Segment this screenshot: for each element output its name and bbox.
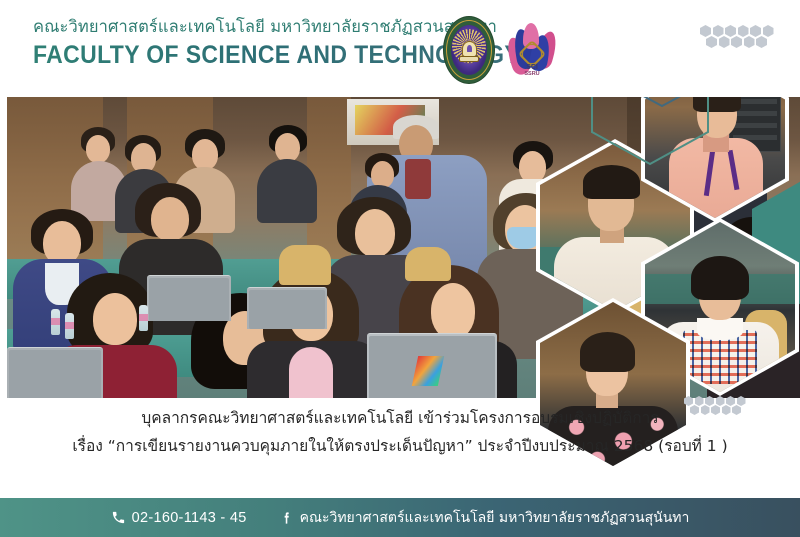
hex-dot (731, 36, 742, 48)
photo-chair (279, 245, 331, 285)
photo-laptop-screen (249, 290, 325, 329)
footer-facebook-item[interactable]: คณะวิทยาศาสตร์และเทคโนโลยี มหาวิทยาลัยรา… (279, 507, 690, 529)
photo-laptop-screen (9, 350, 101, 398)
contact-footer: 02-160-1143 - 45 คณะวิทยาศาสตร์และเทคโนโ… (0, 498, 800, 537)
caption-line-2: เรื่อง “การเขียนรายงานควบคุมภายในให้ตรงป… (0, 432, 800, 460)
poster-root: คณะวิทยาศาสตร์และเทคโนโลยี มหาวิทยาลัยรา… (0, 0, 800, 537)
sci-ssru-logo: SCI SSRU (508, 21, 556, 81)
photo-person-blouse (289, 347, 333, 398)
atom-icon (522, 44, 542, 64)
photo-laptop-screen (149, 278, 229, 321)
hex-dot (722, 405, 731, 415)
photo-water-bottle (51, 309, 60, 335)
sci-logo-text: SCI SSRU (508, 64, 556, 78)
sci-label: SCI (526, 64, 538, 71)
photo-person-head (371, 161, 394, 188)
hex-dot (744, 36, 755, 48)
hex-photo-hair (580, 332, 635, 372)
hex-photo-hair (691, 256, 749, 300)
photo-person-head (275, 133, 300, 162)
event-caption: บุคลากรคณะวิทยาศาสตร์และเทคโนโลยี เข้าร่… (0, 404, 800, 460)
phone-icon (111, 510, 126, 525)
photo-person-body (257, 159, 317, 223)
hex-dot (719, 36, 730, 48)
hex-dot (732, 405, 741, 415)
seal-inner-field (451, 25, 487, 75)
photo-person-head (431, 283, 475, 339)
seal-base (459, 56, 479, 62)
photo-person-head (355, 209, 395, 257)
photo-water-bottle (139, 305, 148, 331)
hex-dot-row (690, 405, 747, 415)
footer-phone-item[interactable]: 02-160-1143 - 45 (111, 510, 247, 526)
hex-dot (701, 405, 710, 415)
ssru-label: SSRU (508, 71, 556, 78)
photo-chair (405, 247, 451, 281)
footer-facebook-name: คณะวิทยาศาสตร์และเทคโนโลยี มหาวิทยาลัยรา… (300, 507, 690, 529)
footer-phone-number: 02-160-1143 - 45 (132, 510, 247, 526)
hex-dot (690, 405, 699, 415)
hex-dot-row (706, 36, 775, 48)
hex-dot (706, 36, 717, 48)
hex-dot-grid-bottom (684, 396, 747, 415)
photo-person-head (86, 135, 110, 163)
atom-ring-circle (522, 44, 542, 64)
hex-photo-collar (697, 318, 743, 340)
university-seal-logo (443, 16, 495, 84)
hex-dot (756, 36, 767, 48)
photo-person-head (93, 293, 137, 345)
hex-dot (711, 405, 720, 415)
photo-person-head (151, 197, 189, 241)
photo-face-mask (507, 227, 541, 249)
photo-person-head (192, 139, 218, 170)
seal-crown-icon (462, 41, 477, 57)
caption-line-1: บุคลากรคณะวิทยาศาสตร์และเทคโนโลยี เข้าร่… (0, 404, 800, 432)
photo-laptop-front (367, 333, 497, 398)
photo-laptop (147, 275, 231, 321)
photo-water-bottle (65, 313, 74, 339)
photo-person-tie (405, 159, 431, 199)
photo-laptop (7, 347, 103, 398)
photo-laptop (247, 287, 327, 329)
hex-dot-grid-top (700, 25, 775, 48)
poster-header: คณะวิทยาศาสตร์และเทคโนโลยี มหาวิทยาลัยรา… (0, 0, 800, 97)
facebook-icon (279, 510, 294, 526)
hex-photo-hair (583, 165, 640, 199)
